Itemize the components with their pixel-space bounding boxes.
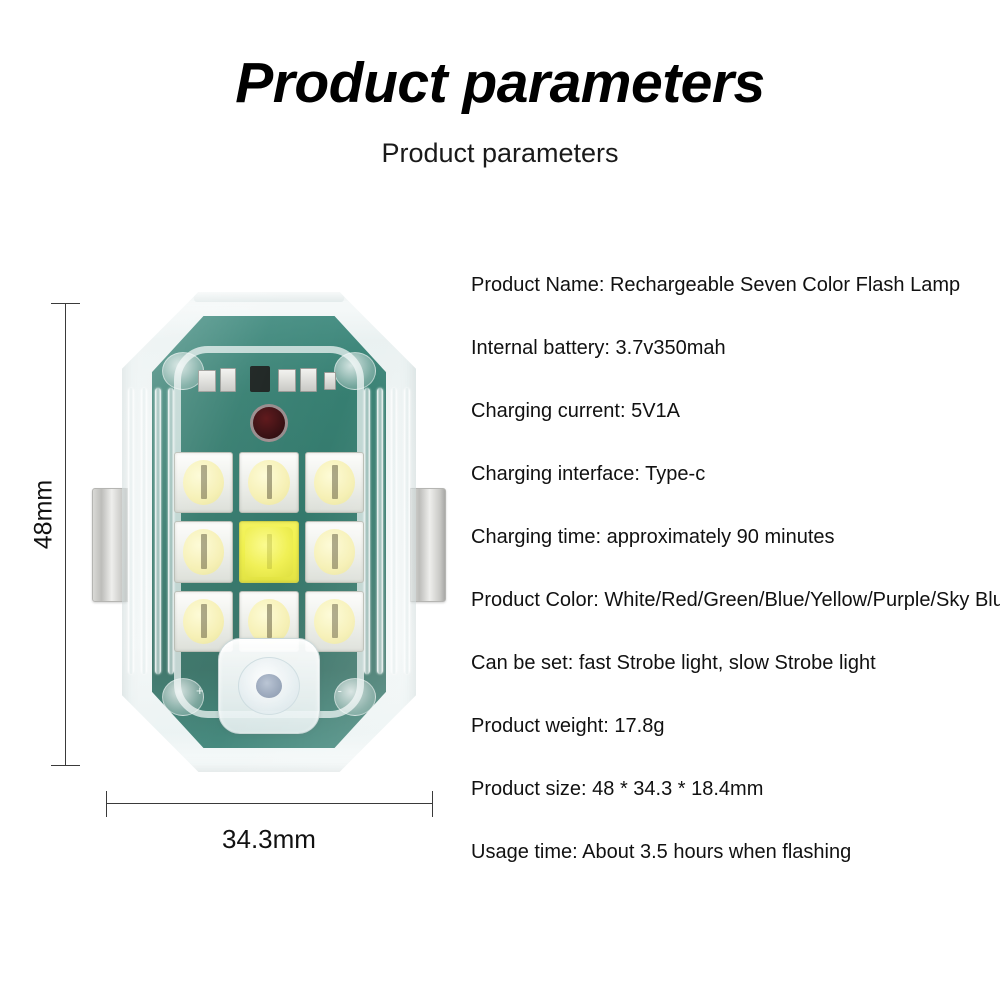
- dimension-label-height: 48mm: [30, 455, 59, 575]
- dimension-cap-right: [432, 791, 433, 817]
- light-pipe-fin: [128, 388, 134, 674]
- dimension-line-vertical: [65, 303, 66, 765]
- spec-line: Can be set: fast Strobe light, slow Stro…: [471, 650, 996, 713]
- product-figure: 48mm 34.3mm: [0, 0, 460, 1000]
- smd-capacitor: [324, 372, 336, 390]
- spec-line: Product Name: Rechargeable Seven Color F…: [471, 272, 996, 335]
- dimension-cap-left: [106, 791, 107, 817]
- specification-list: Product Name: Rechargeable Seven Color F…: [471, 272, 996, 902]
- housing-top-lip: [194, 292, 344, 302]
- light-pipe-fin: [391, 388, 397, 674]
- light-pipe-fin: [141, 388, 147, 674]
- light-pipe-fin: [404, 388, 410, 674]
- smd-resistor: [220, 368, 236, 392]
- silkscreen-plus: +: [196, 683, 204, 698]
- smd-ic: [250, 366, 270, 392]
- power-button[interactable]: [218, 638, 320, 734]
- spec-line: Product Color: White/Red/Green/Blue/Yell…: [471, 587, 996, 650]
- led: [174, 521, 233, 582]
- led-array: [174, 452, 364, 652]
- spec-line: Charging interface: Type-c: [471, 461, 996, 524]
- light-pipe-fin: [377, 388, 383, 674]
- spec-line: Charging current: 5V1A: [471, 398, 996, 461]
- light-pipe-fin: [364, 388, 370, 674]
- spec-line: Usage time: About 3.5 hours when flashin…: [471, 839, 996, 902]
- light-pipe-fins-left: [128, 388, 174, 674]
- smd-resistor: [300, 368, 317, 392]
- light-pipe-fin: [155, 388, 161, 674]
- smd-resistor: [198, 370, 216, 392]
- led: [305, 521, 364, 582]
- dimension-label-width: 34.3mm: [106, 824, 432, 855]
- spec-line: Internal battery: 3.7v350mah: [471, 335, 996, 398]
- spec-line: Product weight: 17.8g: [471, 713, 996, 776]
- dimension-cap-top: [51, 303, 80, 304]
- dimension-cap-bottom: [51, 765, 80, 766]
- spec-line: Product size: 48 * 34.3 * 18.4mm: [471, 776, 996, 839]
- dimension-line-horizontal: [106, 803, 432, 804]
- light-pipe-fins-right: [364, 388, 410, 674]
- led: [305, 452, 364, 513]
- smd-component-row: [194, 366, 344, 396]
- smd-resistor: [278, 369, 296, 392]
- spec-line: Charging time: approximately 90 minutes: [471, 524, 996, 587]
- power-button-ring: [238, 657, 300, 715]
- ir-sensor: [250, 404, 288, 442]
- led: [305, 591, 364, 652]
- led: [239, 452, 298, 513]
- translucent-housing: + -: [122, 292, 416, 772]
- led: [174, 452, 233, 513]
- flash-lamp-device: + -: [106, 292, 432, 772]
- power-button-dot: [256, 674, 282, 698]
- led-center: [239, 521, 298, 582]
- silkscreen-minus: -: [338, 683, 342, 698]
